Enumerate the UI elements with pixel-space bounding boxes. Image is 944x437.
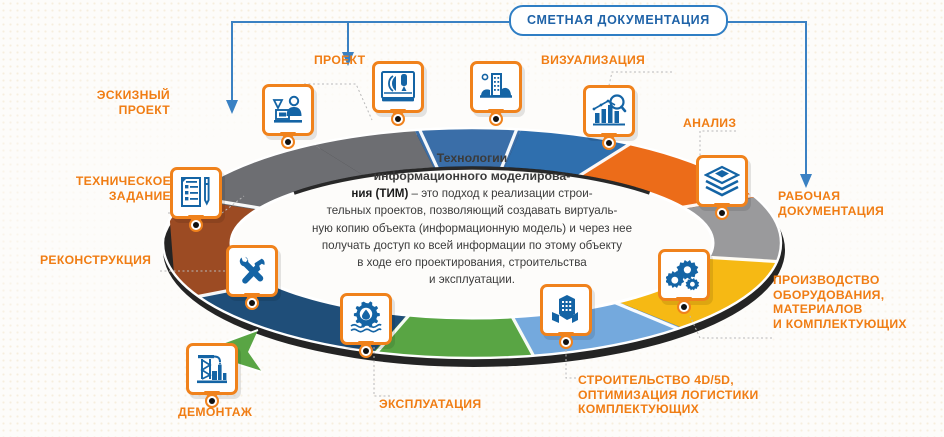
badge-dot <box>359 344 373 358</box>
label-ekspluataciya[interactable]: ЭКСПЛУАТАЦИЯ <box>379 397 519 412</box>
icon-badge-vizualizaciya[interactable] <box>470 61 522 113</box>
center-body-line1: – это подход к реализации строи- <box>408 187 592 200</box>
badge-dot <box>205 394 219 408</box>
label-demontazh[interactable]: ДЕМОНТАЖ <box>178 405 318 420</box>
drafting-tools-icon <box>380 69 416 105</box>
badge-dot <box>281 135 295 149</box>
designer-at-desk-icon <box>270 92 306 128</box>
icon-badge-stroitelstvo[interactable] <box>540 284 592 336</box>
label-rekonstrukciya[interactable]: РЕКОНСТРУКЦИЯ <box>40 253 185 268</box>
badge-dot <box>677 300 691 314</box>
center-body-line5: в ходе его проектирования, строительства <box>357 256 586 269</box>
building-blocks-icon <box>548 292 584 328</box>
label-rabochaya-dokumentaciya[interactable]: РАБОЧАЯ ДОКУМЕНТАЦИЯ <box>778 189 938 218</box>
gear-waterdrop-icon <box>348 301 384 337</box>
infographic-canvas: СМЕТНАЯ ДОКУМЕНТАЦИЯ ЭСКИЗНЫЙ ПРОЕКТ ПРО… <box>0 0 944 437</box>
label-vizualizaciya[interactable]: ВИЗУАЛИЗАЦИЯ <box>541 53 701 68</box>
smeta-documentation-box[interactable]: СМЕТНАЯ ДОКУМЕНТАЦИЯ <box>509 5 728 36</box>
icon-badge-rekonstrukciya[interactable] <box>226 245 278 297</box>
crane-demolition-icon <box>194 351 230 387</box>
icon-badge-eskiznyj-proekt[interactable] <box>262 84 314 136</box>
center-title-line2: информационного моделирова- <box>374 169 571 183</box>
label-proizvodstvo[interactable]: ПРОИЗВОДСТВО ОБОРУДОВАНИЯ, МАТЕРИАЛОВ И … <box>773 273 944 331</box>
icon-badge-analiz[interactable] <box>583 85 635 137</box>
badge-dot <box>189 218 203 232</box>
icon-badge-rabochaya-dokumentaciya[interactable] <box>696 155 748 207</box>
center-title-line1: Технологии <box>437 151 507 165</box>
badge-dot <box>715 206 729 220</box>
center-body-line1-bold: ния (ТИМ) <box>351 187 408 200</box>
badge-dot <box>245 296 259 310</box>
badge-dot <box>602 136 616 150</box>
label-analiz[interactable]: АНАЛИЗ <box>683 116 803 131</box>
center-description: Технологии информационного моделирова- н… <box>272 150 672 289</box>
gears-icon <box>666 257 702 293</box>
layers-analysis-icon <box>704 163 740 199</box>
tools-wrench-hammer-icon <box>234 253 270 289</box>
badge-dot <box>391 112 405 126</box>
label-stroitelstvo[interactable]: СТРОИТЕЛЬСТВО 4D/5D, ОПТИМИЗАЦИЯ ЛОГИСТИ… <box>578 373 778 417</box>
icon-badge-demontazh[interactable] <box>186 343 238 395</box>
badge-dot <box>489 112 503 126</box>
label-tehnicheskoe-zadanie[interactable]: ТЕХНИЧЕСКОЕ ЗАДАНИЕ <box>40 174 171 203</box>
badge-dot <box>559 335 573 349</box>
bar-chart-magnifier-icon <box>591 93 627 129</box>
building-rendering-icon <box>478 69 514 105</box>
icon-badge-proekt[interactable] <box>372 61 424 113</box>
label-eskiznyj-proekt[interactable]: ЭСКИЗНЫЙ ПРОЕКТ <box>40 88 170 117</box>
checklist-pen-icon <box>178 175 214 211</box>
icon-badge-ekspluataciya[interactable] <box>340 293 392 345</box>
icon-badge-proizvodstvo[interactable] <box>658 249 710 301</box>
center-body-line3: ную копию объекта (информационную модель… <box>312 222 632 235</box>
center-body-line2: тельных проектов, позволяющий создавать … <box>327 204 618 217</box>
center-body-line4: получать доступ ко всей информации по эт… <box>322 239 622 252</box>
center-body-line6: и эксплуатации. <box>429 273 515 286</box>
icon-badge-tehnicheskoe-zadanie[interactable] <box>170 167 222 219</box>
